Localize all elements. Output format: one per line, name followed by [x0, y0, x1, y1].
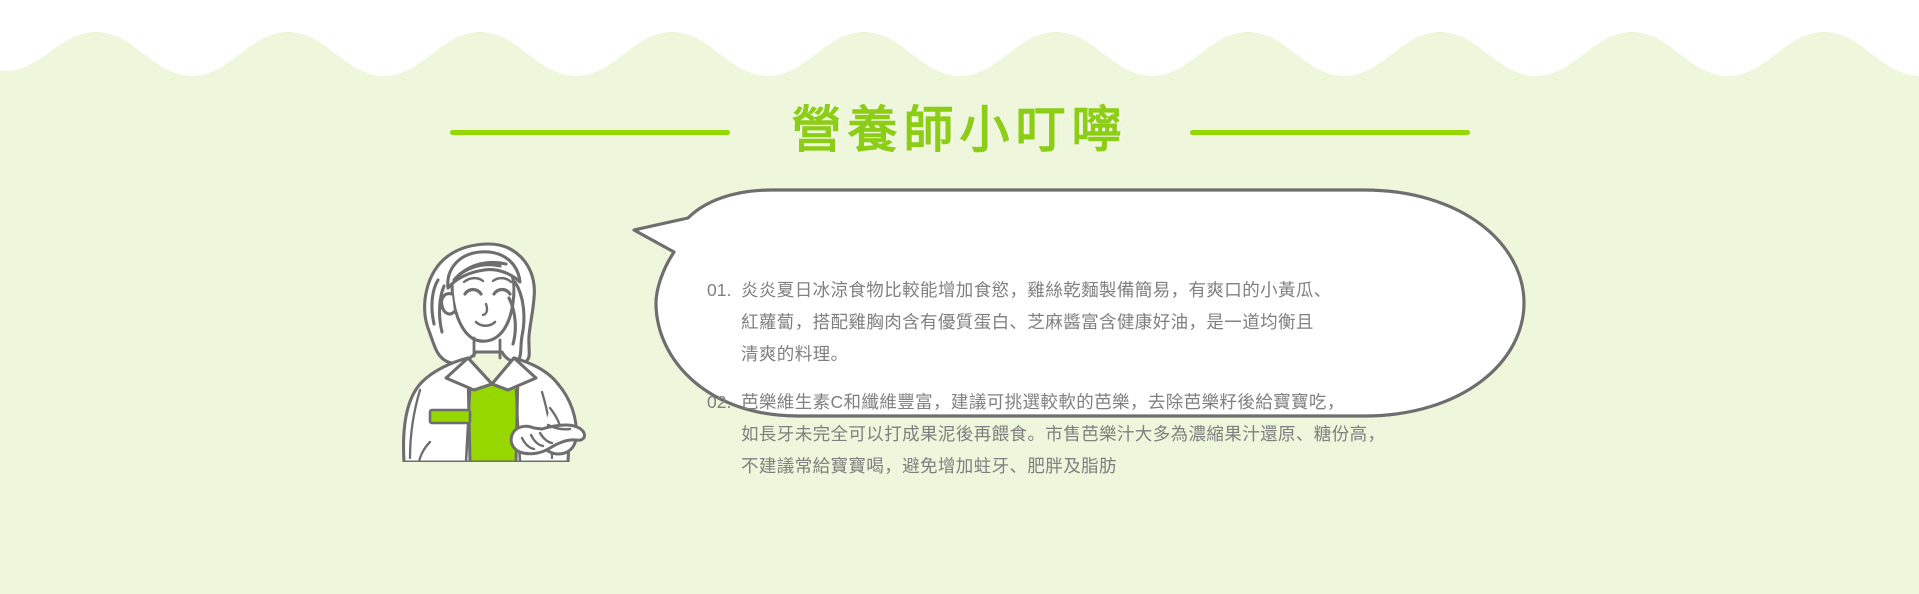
nutritionist-illustration [382, 232, 602, 462]
title-rule-left [450, 130, 730, 135]
tip-text: 炎炎夏日冰涼食物比較能增加食慾，雞絲乾麵製備簡易，有爽口的小黃瓜、 紅蘿蔔，搭配… [741, 274, 1487, 370]
title-rule-right [1190, 130, 1470, 135]
tips-list: 01. 炎炎夏日冰涼食物比較能增加食慾，雞絲乾麵製備簡易，有爽口的小黃瓜、 紅蘿… [707, 274, 1487, 482]
tip-line: 芭樂維生素C和纖維豐富，建議可挑選較軟的芭樂，去除芭樂籽後給寶寶吃， [741, 386, 1487, 418]
tip-line: 炎炎夏日冰涼食物比較能增加食慾，雞絲乾麵製備簡易，有爽口的小黃瓜、 [741, 274, 1487, 306]
title-band: 營養師小叮嚀 [0, 96, 1919, 168]
tip-number: 02. [707, 386, 741, 418]
tip-line: 清爽的料理。 [741, 338, 1487, 370]
page-title: 營養師小叮嚀 [792, 105, 1128, 159]
speech-bubble: 01. 炎炎夏日冰涼食物比較能增加食慾，雞絲乾麵製備簡易，有爽口的小黃瓜、 紅蘿… [612, 186, 1532, 420]
list-item: 02. 芭樂維生素C和纖維豐富，建議可挑選較軟的芭樂，去除芭樂籽後給寶寶吃， 如… [707, 386, 1487, 482]
page-root: 營養師小叮嚀 [0, 0, 1919, 594]
tip-text: 芭樂維生素C和纖維豐富，建議可挑選較軟的芭樂，去除芭樂籽後給寶寶吃， 如長牙未完… [741, 386, 1487, 482]
tip-number: 01. [707, 274, 741, 306]
tip-line: 紅蘿蔔，搭配雞胸肉含有優質蛋白、芝麻醬富含健康好油，是一道均衡且 [741, 306, 1487, 338]
tip-line: 如長牙未完全可以打成果泥後再餵食。市售芭樂汁大多為濃縮果汁還原、糖份高， [741, 418, 1487, 450]
list-item: 01. 炎炎夏日冰涼食物比較能增加食慾，雞絲乾麵製備簡易，有爽口的小黃瓜、 紅蘿… [707, 274, 1487, 370]
tip-line: 不建議常給寶寶喝，避免增加蛀牙、肥胖及脂肪 [741, 450, 1487, 482]
